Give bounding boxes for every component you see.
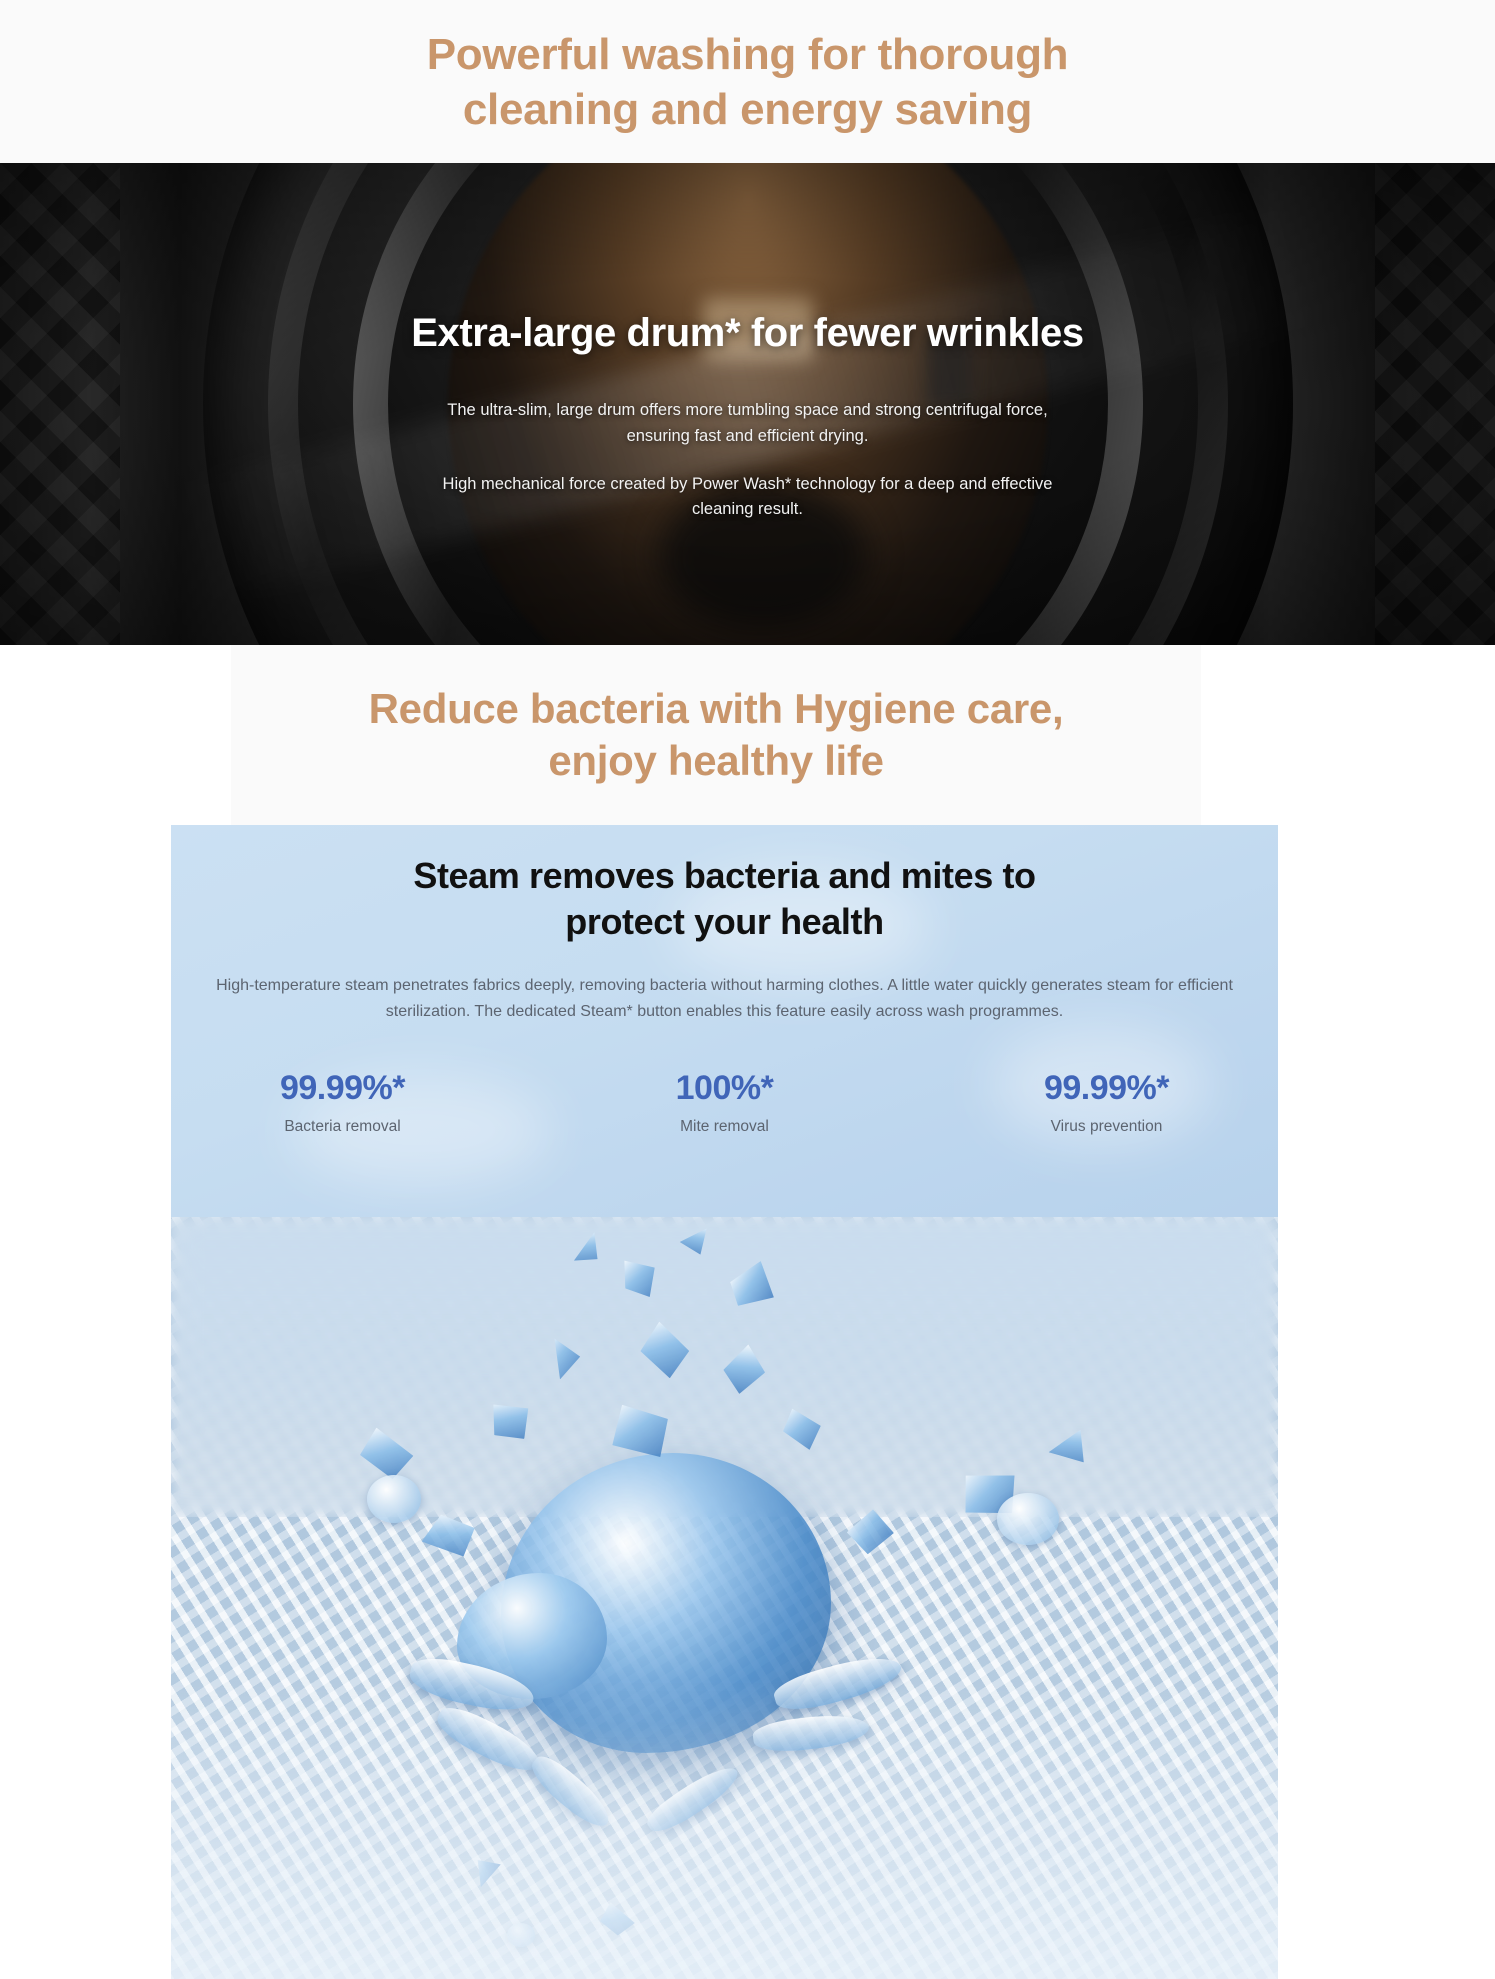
water-droplet (367, 1475, 421, 1523)
drum-hero-paragraph-2: High mechanical force created by Power W… (438, 472, 1058, 523)
steam-panel-description: High-temperature steam penetrates fabric… (190, 973, 1260, 1024)
steam-title-line1: Steam removes bacteria and mites to (413, 855, 1035, 896)
fabric-bottom-fade (171, 1679, 1278, 1979)
stat-value: 99.99%* (258, 1070, 428, 1107)
stat-mite-removal: 100%* Mite removal (640, 1070, 810, 1135)
washing-heading-band: Powerful washing for thorough cleaning a… (0, 0, 1495, 163)
drum-hero-section: Extra-large drum* for fewer wrinkles The… (0, 163, 1495, 645)
stat-virus-prevention: 99.99%* Virus prevention (1022, 1070, 1192, 1135)
fabric-top-haze (171, 1217, 1278, 1487)
washing-heading-line1: Powerful washing for thorough (427, 30, 1068, 79)
stat-label: Virus prevention (1022, 1118, 1192, 1136)
steam-feature-panel: Steam removes bacteria and mites to prot… (171, 825, 1278, 1217)
drum-hero-copy: Extra-large drum* for fewer wrinkles The… (0, 163, 1495, 645)
drum-hero-title: Extra-large drum* for fewer wrinkles (411, 311, 1084, 356)
washing-heading-line2: cleaning and energy saving (463, 85, 1032, 134)
hygiene-heading: Reduce bacteria with Hygiene care, enjoy… (369, 683, 1064, 788)
stat-label: Bacteria removal (258, 1118, 428, 1136)
washing-heading: Powerful washing for thorough cleaning a… (427, 27, 1068, 137)
stat-value: 99.99%* (1022, 1070, 1192, 1107)
stat-value: 100%* (640, 1070, 810, 1107)
hygiene-heading-line2: enjoy healthy life (548, 737, 883, 784)
stat-label: Mite removal (640, 1118, 810, 1136)
steam-title-line2: protect your health (565, 901, 883, 942)
steam-stats-row: 99.99%* Bacteria removal 100%* Mite remo… (171, 1070, 1278, 1135)
water-droplet (997, 1493, 1059, 1545)
steam-panel-title: Steam removes bacteria and mites to prot… (171, 853, 1278, 945)
hygiene-heading-line1: Reduce bacteria with Hygiene care, (369, 685, 1064, 732)
steam-shattering-dust-mite-on-fabric-photo (171, 1217, 1278, 1979)
hygiene-heading-band: Reduce bacteria with Hygiene care, enjoy… (231, 645, 1201, 825)
drum-hero-paragraph-1: The ultra-slim, large drum offers more t… (438, 398, 1058, 449)
stat-bacteria-removal: 99.99%* Bacteria removal (258, 1070, 428, 1135)
product-feature-page: Powerful washing for thorough cleaning a… (0, 0, 1495, 1979)
